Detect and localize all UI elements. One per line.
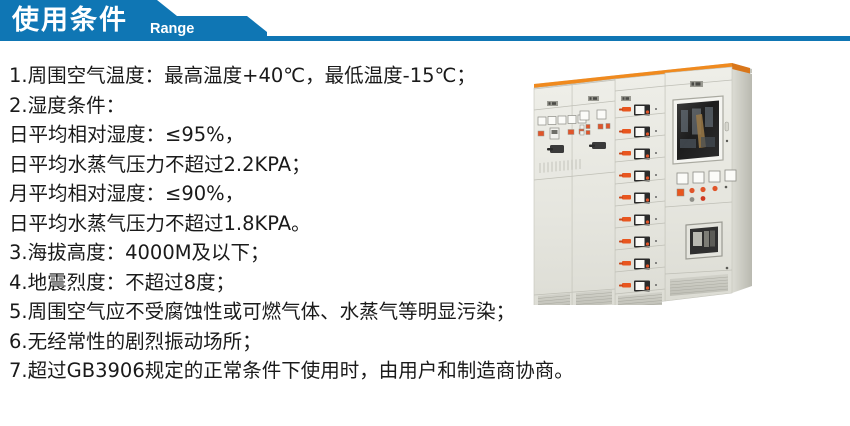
page-title: 使用条件 — [12, 2, 128, 38]
spec-line: 3.海拔高度：4000M及以下； — [9, 238, 649, 268]
spec-line: 月平均相对湿度：≤90%， — [9, 179, 649, 209]
spec-line: 4.地震烈度：不超过8度； — [9, 268, 649, 298]
spec-line: 日平均水蒸气压力不超过1.8KPA。 — [9, 209, 649, 239]
spec-line: 7.超过GB3906规定的正常条件下使用时，由用户和制造商协商。 — [9, 356, 649, 386]
page-header-banner: 使用条件 Range — [0, 0, 850, 46]
spec-line: 2.湿度条件： — [9, 91, 649, 121]
usage-conditions-list: 1.周围空气温度：最高温度+40℃，最低温度-15℃； 2.湿度条件： 日平均相… — [9, 61, 649, 386]
spec-line: 6.无经常性的剧烈振动场所； — [9, 327, 649, 357]
spec-line: 5.周围空气应不受腐蚀性或可燃气体、水蒸气等明显污染； — [9, 297, 649, 327]
spec-line: 日平均水蒸气压力不超过2.2KPA； — [9, 150, 649, 180]
spec-line: 日平均相对湿度：≤95%， — [9, 120, 649, 150]
page-subtitle: Range — [150, 19, 194, 39]
spec-line: 1.周围空气温度：最高温度+40℃，最低温度-15℃； — [9, 61, 649, 91]
